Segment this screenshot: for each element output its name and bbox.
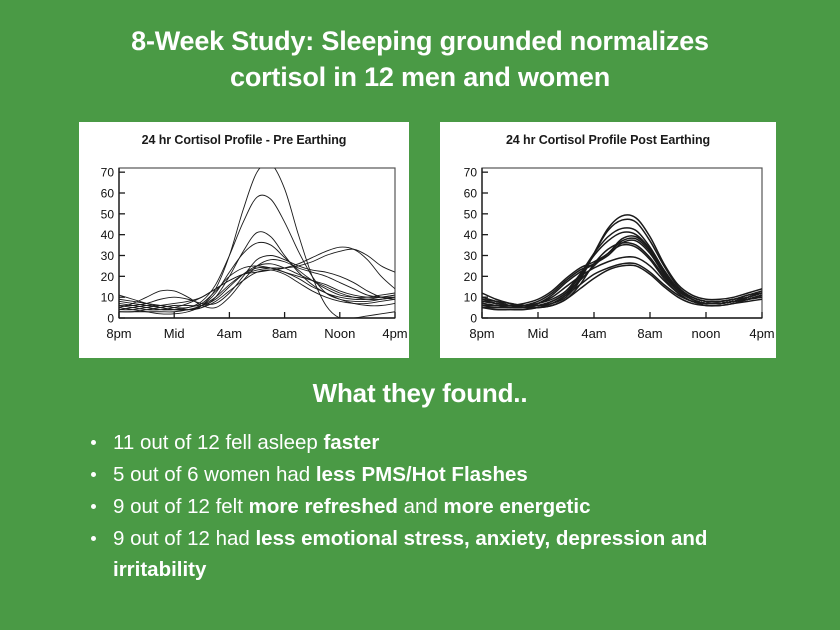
finding-text-plain: 5 out of 6 women had: [113, 463, 316, 486]
chart-x-tick-label: Mid: [164, 326, 185, 341]
chart-x-tick-label: 4pm: [749, 326, 774, 341]
page-title: 8-Week Study: Sleeping grounded normaliz…: [40, 24, 800, 96]
findings-list: 11 out of 12 fell asleep faster5 out of …: [86, 428, 806, 587]
chart-series-line: [482, 238, 762, 308]
page-title-line-1: 8-Week Study: Sleeping grounded normaliz…: [40, 24, 800, 60]
chart-series-line: [119, 242, 395, 310]
chart-y-tick-label: 60: [464, 187, 478, 201]
chart-y-tick-label: 50: [464, 207, 478, 221]
chart-series-line: [482, 245, 762, 308]
finding-text-emphasis: faster: [323, 431, 379, 454]
finding-item: 9 out of 12 felt more refreshed and more…: [86, 492, 806, 522]
finding-text-plain: 9 out of 12 felt: [113, 495, 249, 518]
chart-y-tick-label: 20: [101, 270, 115, 284]
chart-y-tick-label: 20: [464, 270, 478, 284]
chart-panel-pre-earthing: 24 hr Cortisol Profile - Pre Earthing 01…: [79, 122, 409, 358]
chart-y-tick-label: 10: [101, 291, 115, 305]
chart-x-tick-label: 8pm: [106, 326, 131, 341]
chart-x-tick-label: 8pm: [469, 326, 494, 341]
chart-x-tick-label: noon: [692, 326, 721, 341]
chart-x-tick-label: Mid: [528, 326, 549, 341]
chart-series-line: [482, 243, 762, 308]
chart-y-tick-label: 40: [101, 228, 115, 242]
bullet-icon: [91, 472, 96, 477]
finding-text-emphasis: more refreshed: [249, 495, 398, 518]
finding-text-emphasis: more energetic: [444, 495, 591, 518]
finding-text: 11 out of 12 fell asleep faster: [113, 431, 379, 454]
finding-item: 9 out of 12 had less emotional stress, a…: [86, 524, 806, 584]
bullet-icon: [91, 440, 96, 445]
chart-y-tick-label: 0: [107, 312, 114, 326]
finding-item: 5 out of 6 women had less PMS/Hot Flashe…: [86, 460, 806, 490]
chart-series-line: [119, 249, 395, 310]
slide-root: 8-Week Study: Sleeping grounded normaliz…: [0, 0, 840, 630]
chart-series-group: [482, 215, 762, 310]
finding-text-plain: 11 out of 12 fell asleep: [113, 431, 323, 454]
chart-series-line: [119, 195, 395, 310]
chart-series-group: [119, 163, 395, 319]
findings-heading: What they found..: [0, 378, 840, 409]
chart-y-tick-label: 70: [101, 166, 115, 180]
finding-text: 5 out of 6 women had less PMS/Hot Flashe…: [113, 463, 528, 486]
chart-title-pre-earthing: 24 hr Cortisol Profile - Pre Earthing: [79, 133, 409, 147]
finding-text-emphasis: less PMS/Hot Flashes: [316, 463, 528, 486]
chart-series-line: [482, 240, 762, 308]
chart-x-tick-label: 4am: [217, 326, 242, 341]
chart-y-tick-label: 30: [464, 249, 478, 263]
charts-row: 24 hr Cortisol Profile - Pre Earthing 01…: [0, 122, 840, 358]
chart-svg-post-earthing: 0102030405060708pmMid4am8amnoon4pm: [440, 156, 776, 356]
chart-x-tick-label: 8am: [637, 326, 662, 341]
chart-series-line: [119, 259, 395, 308]
chart-x-tick-label: Noon: [324, 326, 355, 341]
page-title-line-2: cortisol in 12 men and women: [40, 60, 800, 96]
chart-series-line: [119, 270, 395, 310]
chart-title-post-earthing: 24 hr Cortisol Profile Post Earthing: [440, 133, 776, 147]
chart-y-tick-label: 60: [101, 187, 115, 201]
chart-series-line: [482, 236, 762, 306]
bullet-icon: [91, 536, 96, 541]
finding-text-plain: 9 out of 12 had: [113, 527, 255, 550]
finding-item: 11 out of 12 fell asleep faster: [86, 428, 806, 458]
chart-y-tick-label: 40: [464, 228, 478, 242]
finding-text: 9 out of 12 felt more refreshed and more…: [113, 495, 590, 518]
chart-series-line: [119, 247, 395, 310]
chart-series-line: [119, 264, 395, 312]
chart-panel-post-earthing: 24 hr Cortisol Profile Post Earthing 010…: [440, 122, 776, 358]
chart-series-line: [119, 163, 395, 319]
chart-x-tick-label: 8am: [272, 326, 297, 341]
finding-text-plain: and: [398, 495, 444, 518]
chart-y-tick-label: 50: [101, 207, 115, 221]
chart-y-tick-label: 30: [101, 249, 115, 263]
bullet-icon: [91, 504, 96, 509]
chart-y-tick-label: 70: [464, 166, 478, 180]
chart-x-tick-label: 4am: [581, 326, 606, 341]
chart-svg-pre-earthing: 0102030405060708pmMid4am8amNoon4pm: [79, 156, 409, 356]
chart-series-line: [119, 256, 395, 306]
chart-x-tick-label: 4pm: [382, 326, 407, 341]
finding-text: 9 out of 12 had less emotional stress, a…: [113, 527, 707, 580]
chart-y-tick-label: 10: [464, 291, 478, 305]
chart-y-tick-label: 0: [470, 312, 477, 326]
